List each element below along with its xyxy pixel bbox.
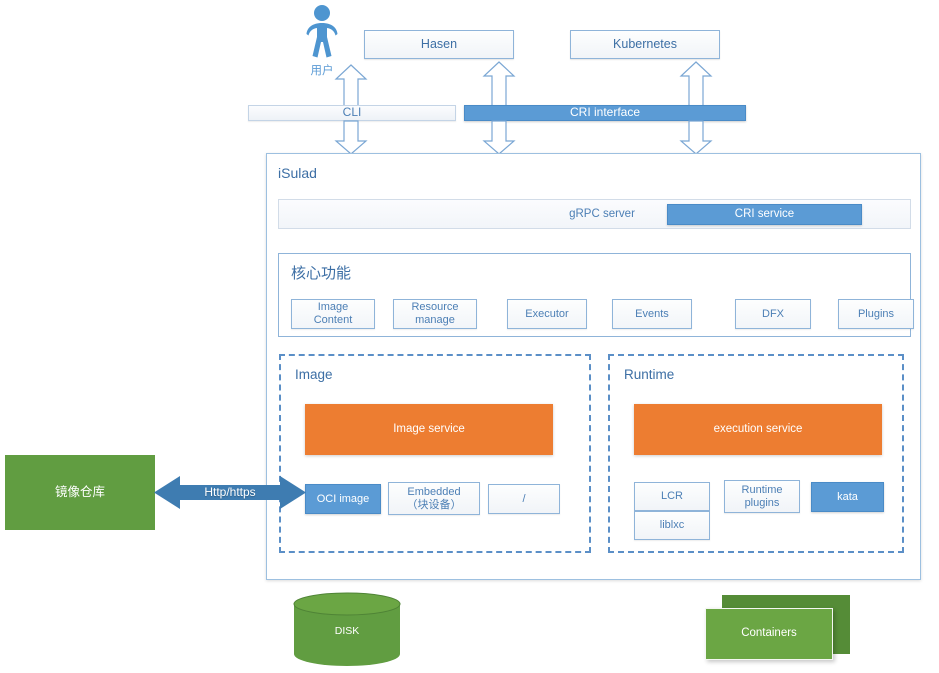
runtime-backend-liblxc-label: liblxc: [660, 519, 684, 532]
runtime-backend-runtime-plugins-line1: Runtime: [742, 484, 783, 497]
image-backend-other[interactable]: /: [488, 484, 560, 514]
runtime-backend-kata[interactable]: kata: [811, 482, 884, 512]
runtime-backend-runtime-plugins-line2: plugins: [745, 497, 780, 510]
core-module-events[interactable]: Events: [612, 299, 692, 329]
http-https-label: Http/https: [182, 484, 278, 501]
core-module-events-label: Events: [635, 308, 669, 321]
image-group: Image Image service OCI image Embedded （…: [279, 354, 591, 553]
grpc-strip: gRPC server CRI service: [278, 199, 911, 229]
arrow-down-cli-to-isulad: [333, 121, 369, 155]
arrow-up-kubernetes-to-cri: [678, 61, 714, 106]
execution-service-bar[interactable]: execution service: [634, 404, 882, 455]
image-registry-box[interactable]: 镜像仓库: [5, 455, 155, 530]
runtime-group: Runtime execution service LCR liblxc Run…: [608, 354, 904, 553]
image-backend-embedded-line2: （块设备）: [407, 499, 462, 512]
runtime-backend-lcr-label: LCR: [661, 490, 683, 503]
core-module-image-content-line2: Content: [314, 314, 353, 327]
cri-service-box[interactable]: CRI service: [667, 204, 862, 225]
arrow-up-hasen-to-cri: [481, 61, 517, 106]
client-box-kubernetes[interactable]: Kubernetes: [570, 30, 720, 59]
disk-label: DISK: [292, 624, 402, 638]
runtime-backend-kata-label: kata: [837, 491, 858, 504]
image-service-bar[interactable]: Image service: [305, 404, 553, 455]
person-icon: [300, 4, 344, 60]
core-module-dfx[interactable]: DFX: [735, 299, 811, 329]
image-group-title: Image: [295, 367, 333, 382]
runtime-backend-runtime-plugins[interactable]: Runtime plugins: [724, 480, 800, 513]
cri-interface-label: CRI interface: [570, 106, 640, 120]
image-backend-embedded-line1: Embedded: [407, 486, 460, 499]
core-module-plugins[interactable]: Plugins: [838, 299, 914, 329]
client-box-hasen-label: Hasen: [421, 37, 457, 51]
image-backend-embedded[interactable]: Embedded （块设备）: [388, 482, 480, 515]
core-functions-group: 核心功能 Image Content Resource manage Execu…: [278, 253, 911, 337]
runtime-group-title: Runtime: [624, 367, 674, 382]
cli-bar-label: CLI: [343, 106, 362, 120]
cli-bar[interactable]: CLI: [248, 105, 456, 121]
core-module-dfx-label: DFX: [762, 308, 784, 321]
arrow-down-cri-to-isulad-right: [678, 121, 714, 155]
core-module-executor[interactable]: Executor: [507, 299, 587, 329]
client-box-hasen[interactable]: Hasen: [364, 30, 514, 59]
core-functions-title: 核心功能: [291, 262, 351, 283]
diagram-canvas: 用户 Hasen Kubernetes CLI CRI interface: [0, 0, 939, 673]
image-registry-label: 镜像仓库: [55, 485, 105, 499]
image-backend-other-label: /: [522, 493, 525, 506]
containers-box-front[interactable]: Containers: [705, 608, 833, 660]
runtime-backend-liblxc[interactable]: liblxc: [634, 511, 710, 540]
core-module-executor-label: Executor: [525, 308, 568, 321]
grpc-server-label: gRPC server: [547, 207, 657, 223]
arrow-down-cri-to-isulad-left: [481, 121, 517, 155]
core-module-image-content-line1: Image: [318, 301, 349, 314]
arrow-up-user-to-cli: [333, 64, 369, 106]
containers-label: Containers: [741, 627, 797, 640]
core-module-resource-manage-line1: Resource: [411, 301, 458, 314]
image-service-label: Image service: [393, 423, 465, 436]
isulad-panel: iSulad gRPC server CRI service 核心功能 Imag…: [266, 153, 921, 580]
runtime-backend-lcr[interactable]: LCR: [634, 482, 710, 511]
image-backend-oci-image[interactable]: OCI image: [305, 484, 381, 514]
image-backend-oci-image-label: OCI image: [317, 493, 370, 506]
execution-service-label: execution service: [714, 423, 803, 436]
client-box-kubernetes-label: Kubernetes: [613, 37, 677, 51]
core-module-image-content[interactable]: Image Content: [291, 299, 375, 329]
disk-cylinder: DISK: [292, 592, 402, 666]
core-module-plugins-label: Plugins: [858, 308, 894, 321]
cri-interface-bar[interactable]: CRI interface: [464, 105, 746, 121]
isulad-title: iSulad: [278, 165, 317, 181]
core-module-resource-manage[interactable]: Resource manage: [393, 299, 477, 329]
cri-service-label: CRI service: [735, 208, 794, 221]
core-module-resource-manage-line2: manage: [415, 314, 455, 327]
